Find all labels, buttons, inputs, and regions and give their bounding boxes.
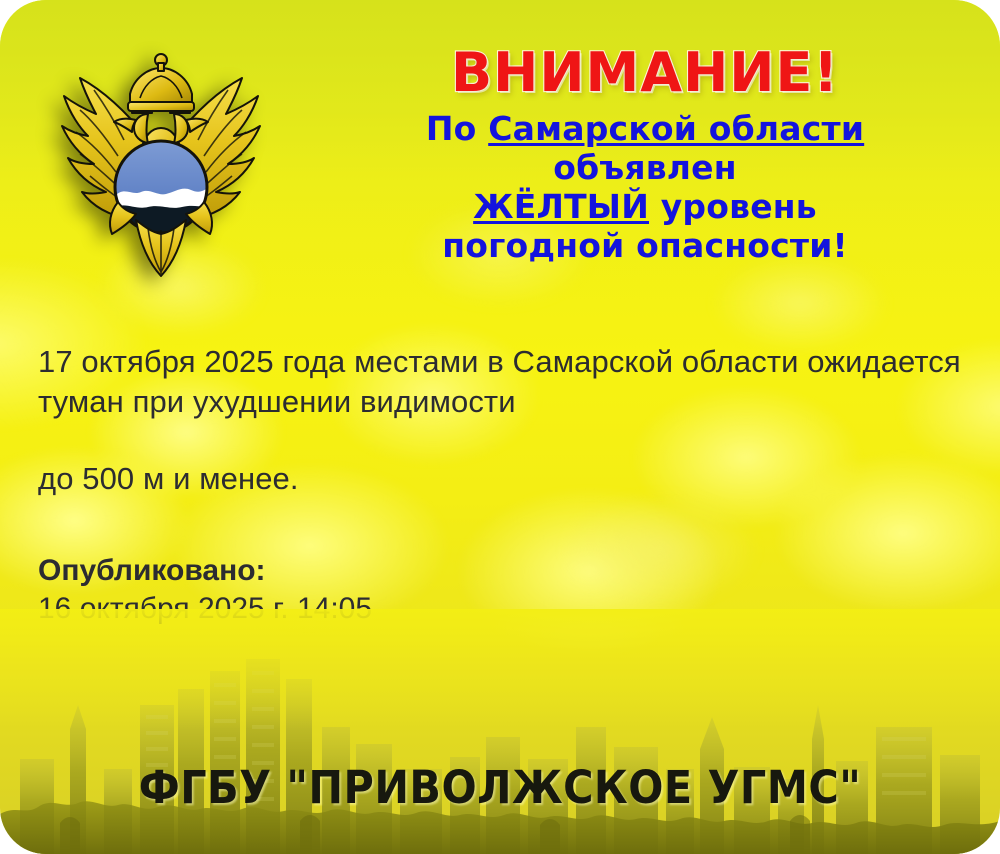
danger-level-name: ЖЁЛТЫЙ — [473, 187, 649, 226]
warning-line-4: погодной опасности! — [300, 227, 990, 266]
region-name: Самарской области — [488, 109, 864, 148]
organization-footer: ФГБУ "ПРИВОЛЖСКОЕ УГМС" — [40, 765, 960, 810]
attention-title: ВНИМАНИЕ! — [300, 46, 990, 100]
roshydromet-eagle-emblem-icon — [36, 44, 286, 289]
warning-body: 17 октября 2025 года местами в Самарской… — [38, 342, 968, 499]
warning-line-3-suffix: уровень — [649, 187, 817, 226]
warning-line-3: ЖЁЛТЫЙ уровень — [300, 188, 990, 227]
weather-warning-card: ВНИМАНИЕ! По Самарской области объявлен … — [0, 0, 1000, 854]
warning-line-1: По Самарской области — [300, 110, 990, 149]
warning-line-1-prefix: По — [426, 109, 488, 148]
visibility-paragraph: до 500 м и менее. — [38, 459, 968, 499]
city-skyline-illustration — [0, 609, 1000, 854]
published-label: Опубликовано: — [38, 552, 738, 590]
published-timestamp: 16 октября 2025 г. 14:05 — [38, 590, 738, 628]
warning-line-2: объявлен — [300, 149, 990, 188]
warning-subtitle: По Самарской области объявлен ЖЁЛТЫЙ уро… — [300, 110, 990, 266]
forecast-paragraph: 17 октября 2025 года местами в Самарской… — [38, 342, 968, 423]
published-info: Опубликовано: 16 октября 2025 г. 14:05 — [38, 552, 738, 628]
warning-header: ВНИМАНИЕ! По Самарской области объявлен … — [300, 46, 990, 266]
